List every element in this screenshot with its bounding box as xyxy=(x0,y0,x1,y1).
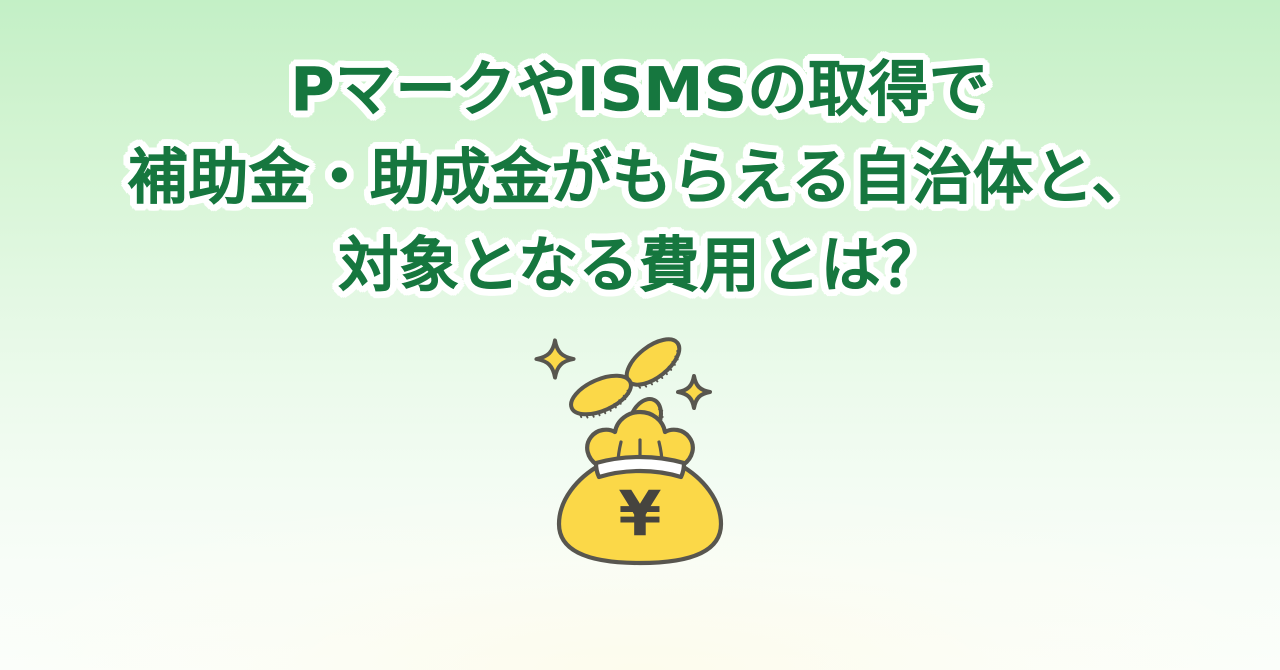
title-line-3: 対象となる費用とは？ xyxy=(0,222,1280,310)
eyecatch-canvas: PマークやISMSの取得で 補助金・助成金がもらえる自治体と、 対象となる費用と… xyxy=(0,0,1280,670)
sparkle-left-icon xyxy=(536,340,573,377)
title-line-2: 補助金・助成金がもらえる自治体と、 xyxy=(0,134,1280,222)
yen-symbol: ¥ xyxy=(618,477,661,550)
title-line-1: PマークやISMSの取得で xyxy=(0,46,1280,134)
page-title: PマークやISMSの取得で 補助金・助成金がもらえる自治体と、 対象となる費用と… xyxy=(0,46,1280,310)
sparkle-right-icon xyxy=(678,376,710,408)
money-bag-svg: ¥ xyxy=(525,332,755,572)
money-bag-illustration: ¥ xyxy=(525,332,755,572)
